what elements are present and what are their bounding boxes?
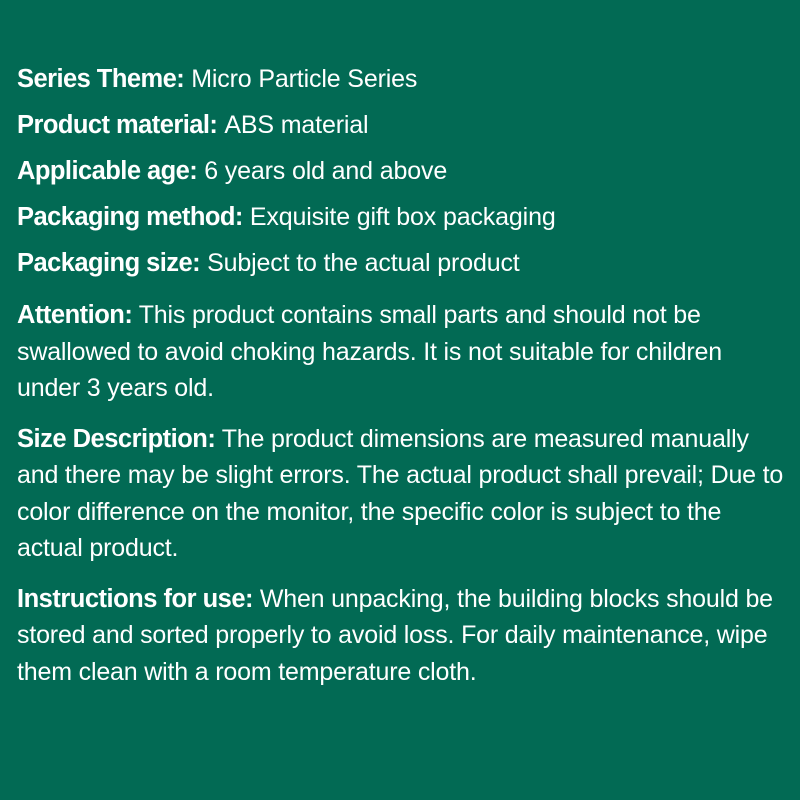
spec-label-series-theme: Series Theme:	[17, 65, 184, 93]
note-block-size-description: Size Description: The product dimensions…	[17, 421, 790, 567]
spec-label-packaging-size: Packaging size:	[17, 249, 200, 277]
spec-label-applicable-age: Applicable age:	[17, 157, 197, 185]
spec-value-packaging-size: Subject to the actual product	[207, 249, 520, 277]
spec-value-product-material: ABS material	[224, 111, 368, 139]
spec-label-product-material: Product material:	[17, 111, 217, 139]
note-block-instructions-for-use: Instructions for use: When unpacking, th…	[17, 581, 790, 691]
spec-label-packaging-method: Packaging method:	[17, 203, 243, 231]
spec-row-packaging-size: Packaging size: Subject to the actual pr…	[17, 240, 790, 286]
product-spec-panel: Series Theme: Micro Particle Series Prod…	[0, 0, 800, 800]
note-label-size-description: Size Description:	[17, 425, 215, 453]
spec-value-packaging-method: Exquisite gift box packaging	[250, 203, 556, 231]
note-label-instructions-for-use: Instructions for use:	[17, 585, 253, 613]
spec-row-series-theme: Series Theme: Micro Particle Series	[17, 56, 790, 102]
spec-row-applicable-age: Applicable age: 6 years old and above	[17, 148, 790, 194]
note-label-attention: Attention:	[17, 301, 132, 329]
spec-value-applicable-age: 6 years old and above	[204, 157, 447, 185]
spec-value-series-theme: Micro Particle Series	[191, 65, 417, 93]
spec-row-product-material: Product material: ABS material	[17, 102, 790, 148]
spec-row-packaging-method: Packaging method: Exquisite gift box pac…	[17, 194, 790, 240]
note-block-attention: Attention: This product contains small p…	[17, 297, 790, 407]
